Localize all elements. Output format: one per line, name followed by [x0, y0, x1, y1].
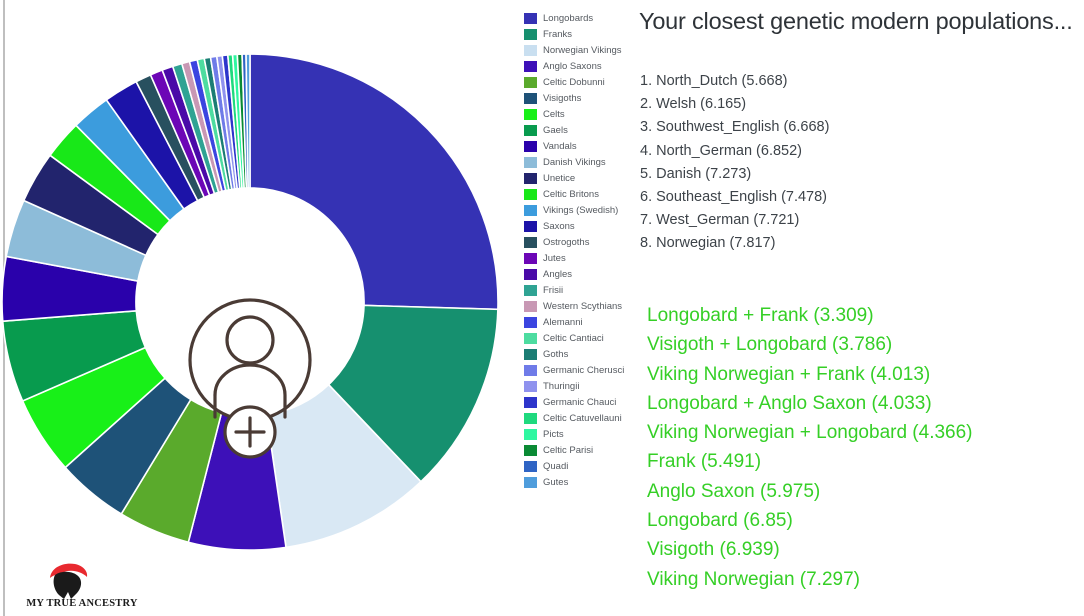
ancient-match-item[interactable]: Viking Norwegian (7.297): [647, 565, 1084, 594]
spartan-helmet-icon: [44, 562, 92, 600]
legend-color-swatch: [524, 93, 537, 104]
legend-item-label: Vikings (Swedish): [543, 205, 618, 216]
legend-item-label: Vandals: [543, 141, 577, 152]
legend-item-label: Celtic Dobunni: [543, 77, 605, 88]
legend-color-swatch: [524, 381, 537, 392]
page-title: Your closest genetic modern populations.…: [639, 8, 1084, 35]
legend-item-label: Thuringii: [543, 381, 579, 392]
legend-item[interactable]: Saxons: [524, 218, 629, 234]
modern-population-item: 6. Southeast_English (7.478): [640, 186, 1080, 209]
legend-item-label: Germanic Chauci: [543, 397, 616, 408]
ancient-match-item[interactable]: Viking Norwegian + Frank (4.013): [647, 360, 1084, 389]
legend-color-swatch: [524, 237, 537, 248]
legend-item[interactable]: Jutes: [524, 250, 629, 266]
legend-color-swatch: [524, 269, 537, 280]
legend-item[interactable]: Celtic Dobunni: [524, 74, 629, 90]
legend-item[interactable]: Celtic Britons: [524, 186, 629, 202]
legend-color-swatch: [524, 333, 537, 344]
legend-item-label: Goths: [543, 349, 568, 360]
modern-population-item: 8. Norwegian (7.817): [640, 232, 1080, 255]
ancient-match-item[interactable]: Longobard + Frank (3.309): [647, 301, 1084, 330]
legend-item-label: Saxons: [543, 221, 575, 232]
modern-population-item: 2. Welsh (6.165): [640, 93, 1080, 116]
legend-item[interactable]: Angles: [524, 266, 629, 282]
legend-color-swatch: [524, 253, 537, 264]
add-person-icon[interactable]: [185, 292, 315, 467]
legend-color-swatch: [524, 301, 537, 312]
ancient-match-item[interactable]: Anglo Saxon (5.975): [647, 477, 1084, 506]
legend-item[interactable]: Frisii: [524, 282, 629, 298]
legend-item[interactable]: Quadi: [524, 458, 629, 474]
legend-item-label: Ostrogoths: [543, 237, 589, 248]
legend-color-swatch: [524, 349, 537, 360]
legend-item[interactable]: Celtic Parisi: [524, 442, 629, 458]
legend-item[interactable]: Gaels: [524, 122, 629, 138]
legend-item-label: Western Scythians: [543, 301, 622, 312]
legend-color-swatch: [524, 109, 537, 120]
legend-item-label: Picts: [543, 429, 564, 440]
my-true-ancestry-logo[interactable]: MY TRUE ANCESTRY: [22, 562, 142, 616]
legend-item[interactable]: Alemanni: [524, 314, 629, 330]
legend-item-label: Unetice: [543, 173, 575, 184]
closest-modern-populations-list: 1. North_Dutch (5.668)2. Welsh (6.165)3.…: [640, 70, 1080, 256]
legend-item[interactable]: Celtic Cantiaci: [524, 330, 629, 346]
ancient-match-item[interactable]: Visigoth + Longobard (3.786): [647, 330, 1084, 359]
legend-item[interactable]: Thuringii: [524, 378, 629, 394]
legend-color-swatch: [524, 413, 537, 424]
legend-color-swatch: [524, 157, 537, 168]
legend-color-swatch: [524, 317, 537, 328]
modern-population-item: 5. Danish (7.273): [640, 163, 1080, 186]
legend-item[interactable]: Ostrogoths: [524, 234, 629, 250]
legend-item-label: Gutes: [543, 477, 568, 488]
chart-legend: LongobardsFranksNorwegian VikingsAnglo S…: [524, 10, 629, 490]
legend-item-label: Danish Vikings: [543, 157, 606, 168]
results-panel: Your closest genetic modern populations.…: [639, 0, 1084, 616]
legend-color-swatch: [524, 45, 537, 56]
ancient-population-matches-list: Longobard + Frank (3.309)Visigoth + Long…: [647, 301, 1084, 594]
ancient-match-item[interactable]: Longobard + Anglo Saxon (4.033): [647, 389, 1084, 418]
ancestry-donut-chart[interactable]: [0, 52, 500, 552]
legend-item-label: Anglo Saxons: [543, 61, 602, 72]
legend-item[interactable]: Danish Vikings: [524, 154, 629, 170]
ancient-match-item[interactable]: Longobard (6.85): [647, 506, 1084, 535]
logo-wordmark: MY TRUE ANCESTRY: [22, 598, 142, 609]
legend-item[interactable]: Unetice: [524, 170, 629, 186]
legend-item-label: Angles: [543, 269, 572, 280]
legend-item[interactable]: Anglo Saxons: [524, 58, 629, 74]
legend-item[interactable]: Goths: [524, 346, 629, 362]
legend-color-swatch: [524, 429, 537, 440]
legend-item-label: Visigoths: [543, 93, 581, 104]
legend-item-label: Celtic Catuvellauni: [543, 413, 622, 424]
legend-color-swatch: [524, 221, 537, 232]
ancient-match-item[interactable]: Frank (5.491): [647, 447, 1084, 476]
legend-item-label: Celtic Parisi: [543, 445, 593, 456]
legend-color-swatch: [524, 365, 537, 376]
legend-item-label: Longobards: [543, 13, 593, 24]
legend-color-swatch: [524, 205, 537, 216]
legend-item[interactable]: Celts: [524, 106, 629, 122]
legend-color-swatch: [524, 125, 537, 136]
legend-item[interactable]: Visigoths: [524, 90, 629, 106]
legend-item-label: Frisii: [543, 285, 563, 296]
legend-color-swatch: [524, 189, 537, 200]
legend-item[interactable]: Vikings (Swedish): [524, 202, 629, 218]
modern-population-item: 7. West_German (7.721): [640, 209, 1080, 232]
legend-item-label: Jutes: [543, 253, 566, 264]
legend-item-label: Celtic Cantiaci: [543, 333, 604, 344]
legend-item[interactable]: Franks: [524, 26, 629, 42]
legend-item[interactable]: Germanic Cherusci: [524, 362, 629, 378]
legend-color-swatch: [524, 77, 537, 88]
legend-item[interactable]: Gutes: [524, 474, 629, 490]
legend-color-swatch: [524, 29, 537, 40]
results-page: LongobardsFranksNorwegian VikingsAnglo S…: [0, 0, 1084, 616]
legend-color-swatch: [524, 445, 537, 456]
ancient-match-item[interactable]: Visigoth (6.939): [647, 535, 1084, 564]
legend-item-label: Gaels: [543, 125, 568, 136]
legend-item[interactable]: Longobards: [524, 10, 629, 26]
legend-color-swatch: [524, 61, 537, 72]
legend-color-swatch: [524, 141, 537, 152]
ancient-match-item[interactable]: Viking Norwegian + Longobard (4.366): [647, 418, 1084, 447]
legend-color-swatch: [524, 13, 537, 24]
legend-item-label: Celts: [543, 109, 565, 120]
legend-item-label: Franks: [543, 29, 572, 40]
legend-color-swatch: [524, 477, 537, 488]
legend-item[interactable]: Picts: [524, 426, 629, 442]
modern-population-item: 3. Southwest_English (6.668): [640, 116, 1080, 139]
legend-item[interactable]: Vandals: [524, 138, 629, 154]
legend-color-swatch: [524, 173, 537, 184]
legend-item[interactable]: Celtic Catuvellauni: [524, 410, 629, 426]
modern-population-item: 4. North_German (6.852): [640, 140, 1080, 163]
legend-item-label: Germanic Cherusci: [543, 365, 624, 376]
modern-population-item: 1. North_Dutch (5.668): [640, 70, 1080, 93]
legend-item-label: Quadi: [543, 461, 568, 472]
legend-item[interactable]: Norwegian Vikings: [524, 42, 629, 58]
legend-item-label: Norwegian Vikings: [543, 45, 622, 56]
legend-item-label: Alemanni: [543, 317, 583, 328]
legend-color-swatch: [524, 397, 537, 408]
legend-item[interactable]: Germanic Chauci: [524, 394, 629, 410]
legend-color-swatch: [524, 461, 537, 472]
legend-item[interactable]: Western Scythians: [524, 298, 629, 314]
legend-color-swatch: [524, 285, 537, 296]
legend-item-label: Celtic Britons: [543, 189, 599, 200]
donut-slice[interactable]: [250, 54, 498, 309]
